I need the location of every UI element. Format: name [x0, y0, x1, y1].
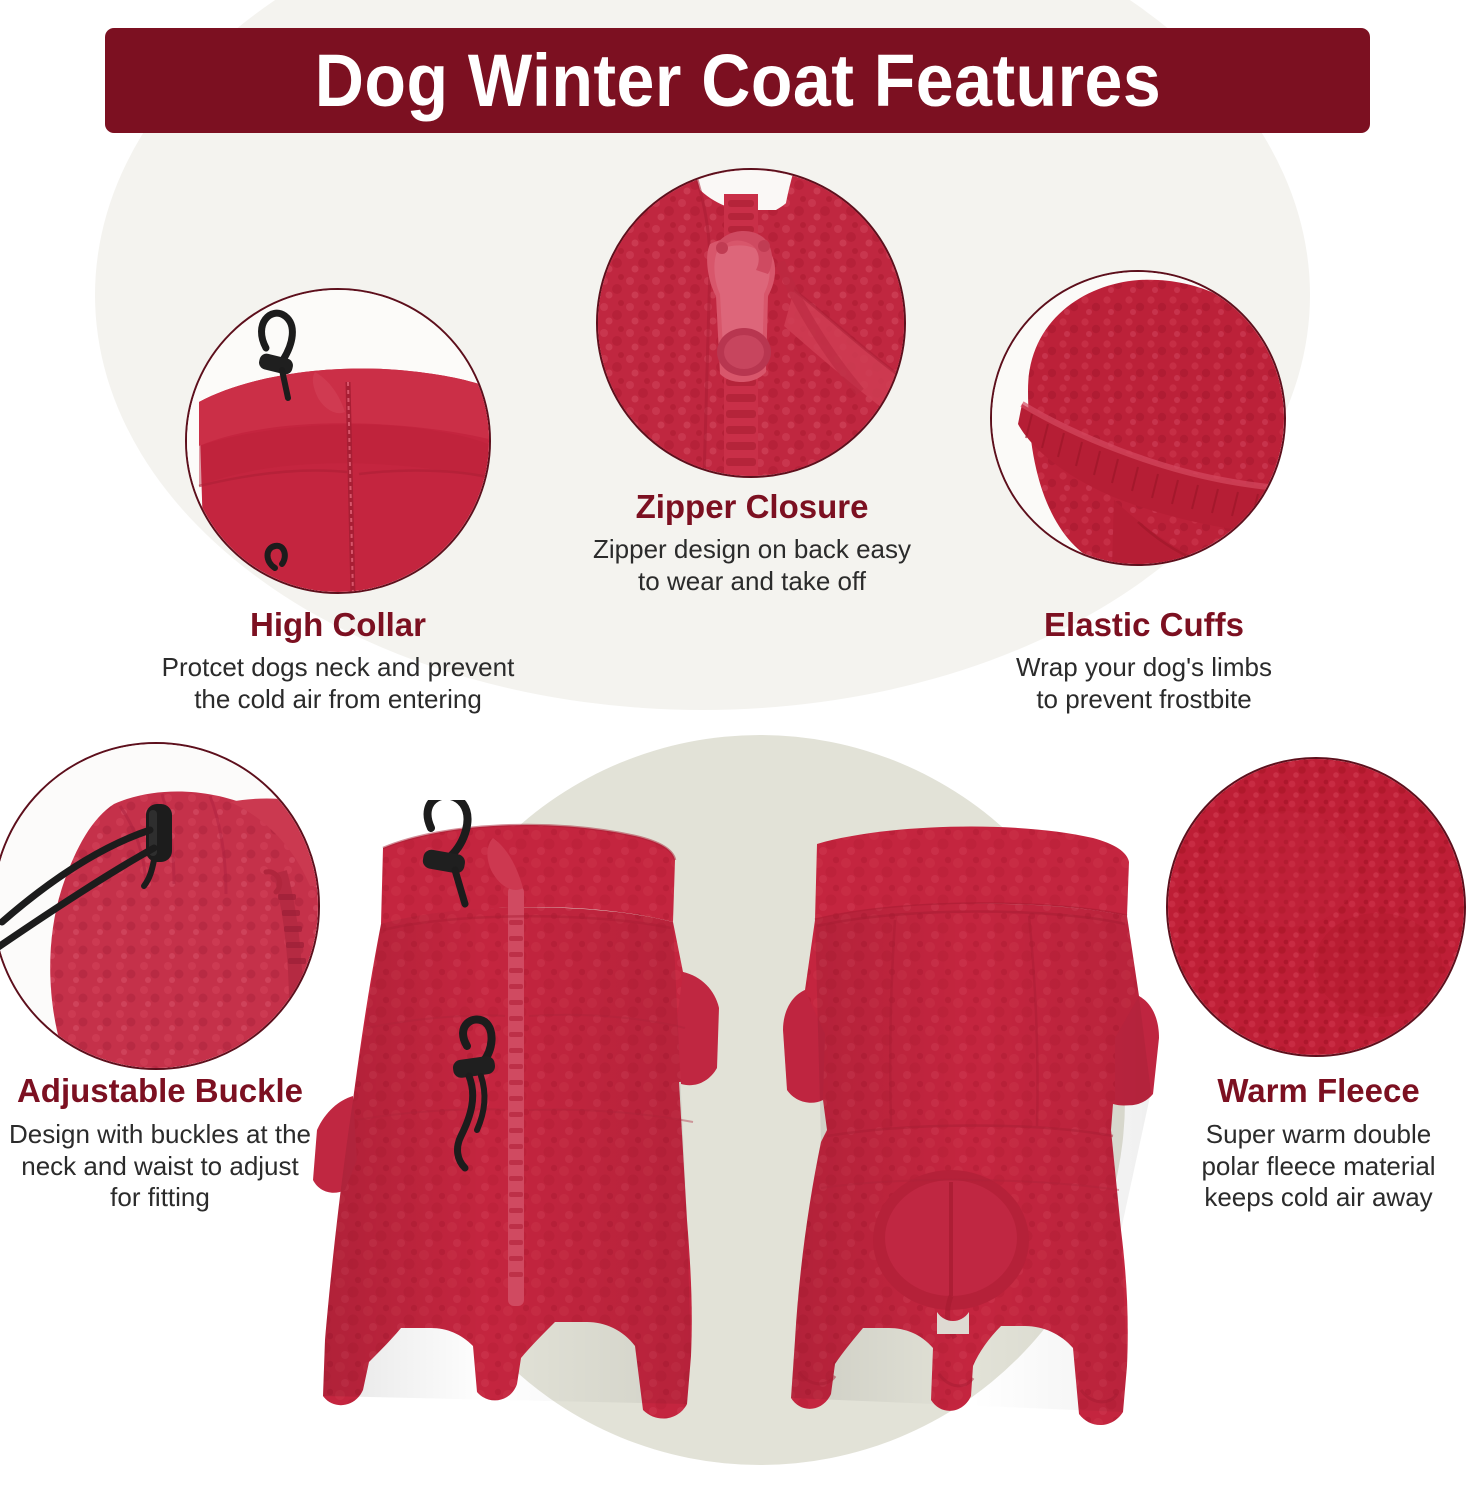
fleece-texture-closeup-photo: [1166, 757, 1466, 1057]
page-title: Dog Winter Coat Features: [314, 44, 1160, 118]
feature-title-warm-fleece: Warm Fleece: [1160, 1073, 1477, 1110]
high-collar-illustration: [187, 290, 491, 594]
feature-title-zipper-closure: Zipper Closure: [562, 489, 942, 526]
dog-coat-front-illustration: [305, 800, 735, 1500]
feature-desc-zipper-closure: Zipper design on back easy to wear and t…: [540, 534, 964, 597]
infographic-page: Dog Winter Coat Features High Coll: [0, 0, 1477, 1500]
zipper-illustration: [598, 170, 906, 478]
feature-desc-elastic-cuffs: Wrap your dog's limbs to prevent frostbi…: [948, 652, 1340, 715]
feature-desc-adjustable-buckle: Design with buckles at the neck and wais…: [0, 1119, 320, 1214]
feature-title-high-collar: High Collar: [150, 607, 526, 644]
dog-coat-back-view-photo: [755, 800, 1185, 1500]
high-collar-closeup-photo: [185, 288, 491, 594]
title-banner: Dog Winter Coat Features: [105, 28, 1370, 133]
adjustable-buckle-closeup-photo: [0, 742, 320, 1070]
elastic-cuff-illustration: [992, 272, 1286, 566]
zipper-closeup-photo: [596, 168, 906, 478]
dog-coat-back-illustration: [755, 800, 1185, 1500]
elastic-cuff-closeup-photo: [990, 270, 1286, 566]
dog-coat-front-view-photo: [305, 800, 735, 1500]
feature-title-elastic-cuffs: Elastic Cuffs: [960, 607, 1328, 644]
feature-desc-high-collar: Protcet dogs neck and prevent the cold a…: [120, 652, 556, 715]
feature-desc-warm-fleece: Super warm double polar fleece material …: [1160, 1119, 1477, 1214]
adjustable-buckle-illustration: [0, 744, 320, 1070]
fleece-texture-illustration: [1168, 759, 1466, 1057]
feature-title-adjustable-buckle: Adjustable Buckle: [0, 1073, 320, 1110]
